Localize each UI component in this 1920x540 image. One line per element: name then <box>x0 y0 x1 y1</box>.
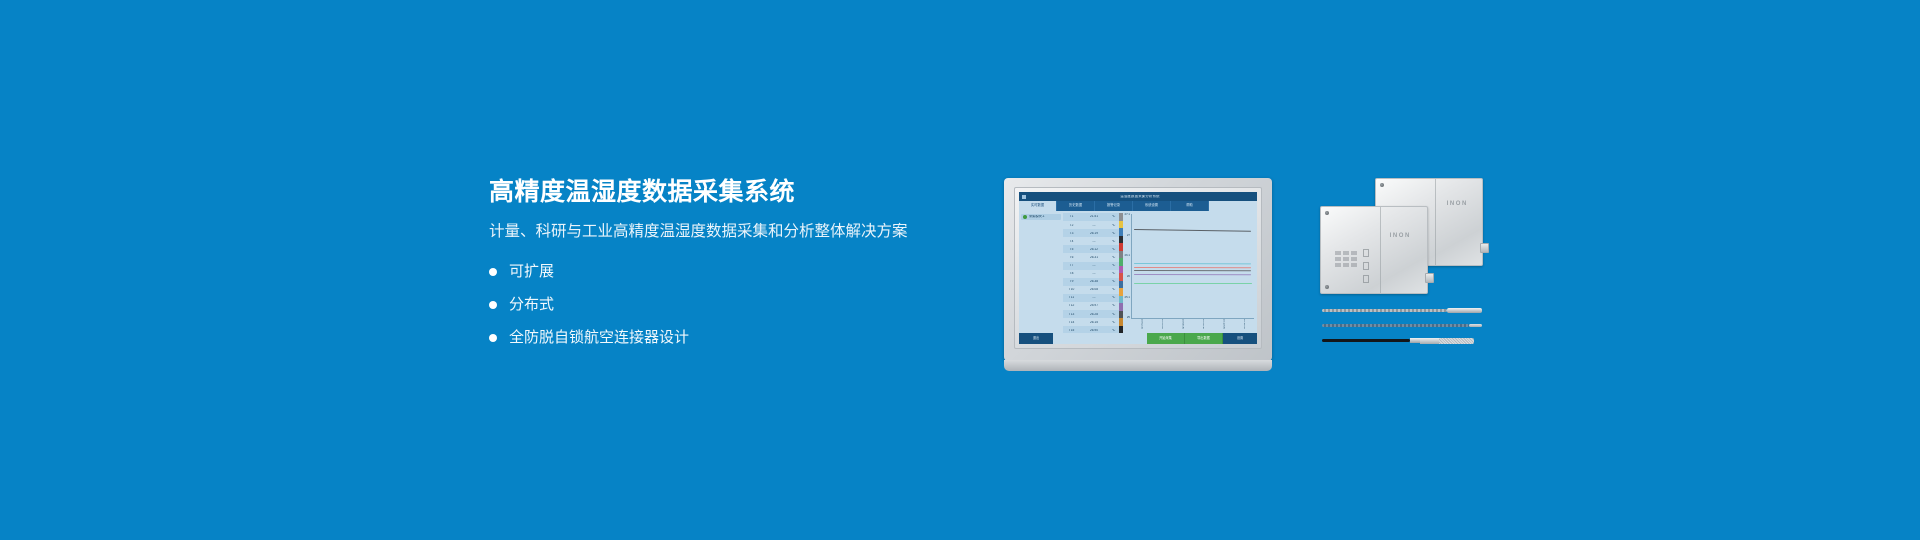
bullet-icon <box>489 334 497 342</box>
channel-value: 26.08 <box>1080 288 1108 291</box>
monitor-inner-bezel: 温湿度数据采集分析系统 实时数据 历史数据 报警记录 系统设置 帮助 采集模块-… <box>1014 187 1262 349</box>
table-row[interactable]: T626.31℃ <box>1063 253 1119 261</box>
tab-bar-filler <box>1209 201 1257 211</box>
x-tick-label: 10:13:00 <box>1242 319 1245 333</box>
chart-series-line <box>1134 267 1251 268</box>
table-row[interactable]: T7---℃ <box>1063 262 1119 270</box>
probe-braided <box>1322 308 1482 313</box>
table-row[interactable]: T1326.28℃ <box>1063 310 1119 318</box>
y-tick-label: 25.1 <box>1125 296 1130 299</box>
screw-icon <box>1325 285 1329 289</box>
channel-name: T7 <box>1063 264 1080 267</box>
acquisition-module-front: INON <box>1320 206 1428 294</box>
brand-label: INON <box>1447 201 1468 207</box>
channel-unit: ℃ <box>1108 272 1119 275</box>
channel-value: --- <box>1080 224 1108 227</box>
feature-label: 全防脱自锁航空连接器设计 <box>509 330 689 345</box>
channel-readout-table: T121.51℃T2---℃T326.19℃T4---℃T526.12℃T626… <box>1063 211 1119 333</box>
channel-unit: ℃ <box>1108 280 1119 283</box>
channel-name: T1 <box>1063 215 1080 218</box>
probe-sensor-head <box>1439 338 1474 344</box>
chart-series-line <box>1134 283 1251 284</box>
chart-y-axis: 27.12726.12625.125 <box>1123 213 1131 319</box>
y-tick-label: 26 <box>1127 275 1130 278</box>
hero-text-block: 高精度温湿度数据采集系统 计量、科研与工业高精度温湿度数据采集和分析整体解决方案… <box>489 177 959 363</box>
y-tick-label: 26.1 <box>1125 254 1130 257</box>
probe-tip <box>1447 308 1482 313</box>
module-port-column <box>1363 249 1369 283</box>
channel-unit: ℃ <box>1108 248 1119 251</box>
channel-name: T14 <box>1063 321 1080 324</box>
channel-name: T4 <box>1063 240 1080 243</box>
feature-label: 分布式 <box>509 297 554 312</box>
channel-unit: ℃ <box>1108 215 1119 218</box>
screen-window-title: 温湿度数据采集分析系统 <box>1026 195 1254 198</box>
footer-spacer <box>1053 333 1147 344</box>
status-dot-icon <box>1023 215 1027 219</box>
channel-value: 26.90 <box>1080 329 1108 332</box>
channel-name: T11 <box>1063 296 1080 299</box>
y-tick-label: 27 <box>1127 234 1130 237</box>
channel-name: T5 <box>1063 248 1080 251</box>
probe-blue-cable <box>1322 323 1482 328</box>
table-row[interactable]: T1426.15℃ <box>1063 318 1119 326</box>
channel-name: T12 <box>1063 304 1080 307</box>
channel-unit: ℃ <box>1108 321 1119 324</box>
channel-value: 26.15 <box>1080 321 1108 324</box>
table-row[interactable]: T326.19℃ <box>1063 229 1119 237</box>
probe-tip <box>1469 324 1482 327</box>
probe-ferrule <box>1410 338 1420 343</box>
x-tick-label: 10:04:20 <box>1160 319 1163 333</box>
screw-icon <box>1325 211 1329 215</box>
hardware-group: INON INON <box>1320 178 1485 368</box>
module-seam <box>1435 179 1436 265</box>
chart-series-line <box>1134 229 1251 232</box>
probe-cable <box>1322 339 1410 342</box>
device-tree-sidebar: 采集模块-1 <box>1019 211 1063 333</box>
table-row[interactable]: T121.51℃ <box>1063 213 1119 221</box>
table-row[interactable]: T1225.97℃ <box>1063 302 1119 310</box>
channel-name: T6 <box>1063 256 1080 259</box>
aviation-connector <box>1425 273 1434 283</box>
tab-history-data[interactable]: 历史数据 <box>1057 201 1095 211</box>
channel-unit: ℃ <box>1108 304 1119 307</box>
module-label-grid <box>1335 251 1357 267</box>
channel-name: T13 <box>1063 313 1080 316</box>
channel-value: --- <box>1080 296 1108 299</box>
channel-value: 26.12 <box>1080 248 1108 251</box>
x-tick-label: 10:10:50 <box>1222 319 1225 333</box>
screen-title-bar: 温湿度数据采集分析系统 <box>1019 192 1257 201</box>
channel-name: T10 <box>1063 288 1080 291</box>
screw-icon <box>1380 183 1384 187</box>
settings-button[interactable]: 设置 <box>1223 333 1257 344</box>
tab-help[interactable]: 帮助 <box>1171 201 1209 211</box>
channel-unit: ℃ <box>1108 288 1119 291</box>
probe-black-sensor <box>1322 338 1482 343</box>
tab-system-settings[interactable]: 系统设置 <box>1133 201 1171 211</box>
feature-label: 可扩展 <box>509 264 554 279</box>
screen-body: 采集模块-1 T121.51℃T2---℃T326.19℃T4---℃T526.… <box>1019 211 1257 333</box>
monitor-screen: 温湿度数据采集分析系统 实时数据 历史数据 报警记录 系统设置 帮助 采集模块-… <box>1019 192 1257 344</box>
channel-unit: ℃ <box>1108 232 1119 235</box>
tab-realtime-data[interactable]: 实时数据 <box>1019 201 1057 211</box>
chart-series-line <box>1134 270 1251 271</box>
channel-value: 21.51 <box>1080 215 1108 218</box>
x-tick-label: 10:02:10 <box>1140 319 1143 333</box>
tab-alarm-log[interactable]: 报警记录 <box>1095 201 1133 211</box>
channel-name: T2 <box>1063 224 1080 227</box>
trend-chart: 27.12726.12625.125 10:02:1010:04:2010:06… <box>1123 211 1257 333</box>
chart-plot-area <box>1131 214 1254 319</box>
table-row[interactable]: T4---℃ <box>1063 237 1119 245</box>
channel-value: 26.31 <box>1080 256 1108 259</box>
channel-value: 26.38 <box>1080 280 1108 283</box>
aviation-connector <box>1480 243 1489 253</box>
monitor-stand <box>1004 360 1272 371</box>
channel-name: T15 <box>1063 329 1080 332</box>
channel-unit: ℃ <box>1108 329 1119 332</box>
table-row[interactable]: T11---℃ <box>1063 294 1119 302</box>
screen-tab-bar: 实时数据 历史数据 报警记录 系统设置 帮助 <box>1019 201 1257 211</box>
feature-item-2: 全防脱自锁航空连接器设计 <box>489 330 959 345</box>
feature-list: 可扩展 分布式 全防脱自锁航空连接器设计 <box>489 264 959 345</box>
probe-cable <box>1322 324 1469 327</box>
table-row[interactable]: T1026.08℃ <box>1063 286 1119 294</box>
page-subtitle: 计量、科研与工业高精度温湿度数据采集和分析整体解决方案 <box>489 222 959 242</box>
channel-value: 26.19 <box>1080 232 1108 235</box>
channel-unit: ℃ <box>1108 224 1119 227</box>
chart-series-line <box>1134 274 1251 275</box>
probe-cable <box>1322 309 1447 312</box>
channel-name: T9 <box>1063 280 1080 283</box>
screen-footer-bar: 退出 开始采集 导出数据 设置 <box>1019 333 1257 344</box>
bullet-icon <box>489 268 497 276</box>
channel-name: T8 <box>1063 272 1080 275</box>
channel-unit: ℃ <box>1108 313 1119 316</box>
x-tick-label: 10:06:30 <box>1181 319 1184 333</box>
feature-item-1: 分布式 <box>489 297 959 312</box>
probe-body <box>1420 338 1439 344</box>
channel-name: T3 <box>1063 232 1080 235</box>
monitor-bezel: 温湿度数据采集分析系统 实时数据 历史数据 报警记录 系统设置 帮助 采集模块-… <box>1004 178 1272 361</box>
brand-label: INON <box>1390 233 1411 239</box>
table-row[interactable]: T926.38℃ <box>1063 278 1119 286</box>
device-tree-node[interactable]: 采集模块-1 <box>1021 214 1061 220</box>
channel-unit: ℃ <box>1108 256 1119 259</box>
bullet-icon <box>489 301 497 309</box>
device-node-label: 采集模块-1 <box>1029 215 1045 218</box>
channel-unit: ℃ <box>1108 296 1119 299</box>
table-row[interactable]: T2---℃ <box>1063 221 1119 229</box>
channel-unit: ℃ <box>1108 264 1119 267</box>
exit-button[interactable]: 退出 <box>1019 333 1053 344</box>
channel-value: --- <box>1080 240 1108 243</box>
channel-value: 25.97 <box>1080 304 1108 307</box>
y-tick-label: 27.1 <box>1125 213 1130 216</box>
table-row[interactable]: T8---℃ <box>1063 270 1119 278</box>
chart-x-axis: 10:02:1010:04:2010:06:3010:08:4010:10:50… <box>1131 319 1254 333</box>
start-acquisition-button[interactable]: 开始采集 <box>1147 333 1185 344</box>
chart-series-line <box>1134 263 1251 264</box>
channel-unit: ℃ <box>1108 240 1119 243</box>
export-data-button[interactable]: 导出数据 <box>1185 333 1223 344</box>
channel-value: --- <box>1080 272 1108 275</box>
y-tick-label: 25 <box>1127 316 1130 319</box>
module-seam <box>1380 207 1381 293</box>
page-title: 高精度温湿度数据采集系统 <box>489 177 959 207</box>
feature-item-0: 可扩展 <box>489 264 959 279</box>
table-row[interactable]: T526.12℃ <box>1063 245 1119 253</box>
channel-value: --- <box>1080 264 1108 267</box>
channel-value: 26.28 <box>1080 313 1108 316</box>
x-tick-label: 10:08:40 <box>1201 319 1204 333</box>
monitor-device: 温湿度数据采集分析系统 实时数据 历史数据 报警记录 系统设置 帮助 采集模块-… <box>1004 178 1272 361</box>
